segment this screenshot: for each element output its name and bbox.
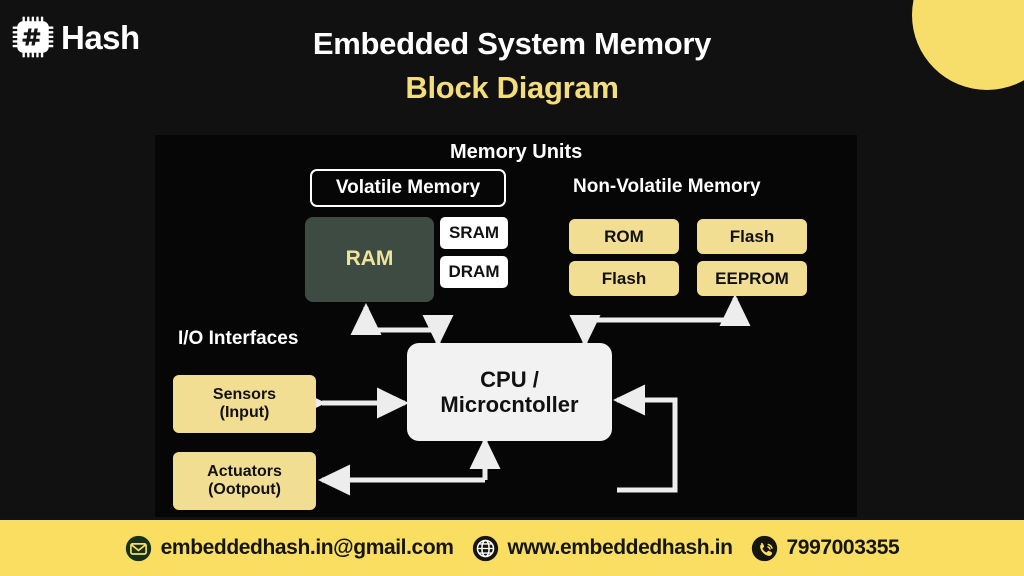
sensors-label-line2: (Input) <box>220 404 270 422</box>
block-diagram-panel: Memory Units Non-Volatile Memory I/O Int… <box>155 135 857 517</box>
eeprom-box: EEPROM <box>697 261 807 296</box>
flash-left-box: Flash <box>569 261 679 296</box>
ram-box: RAM <box>305 217 434 302</box>
footer-phone-item[interactable]: 7997003355 <box>751 535 900 562</box>
flash-right-box: Flash <box>697 219 807 254</box>
phone-icon <box>751 535 778 562</box>
actuators-box: Actuators (Ootpout) <box>173 452 316 510</box>
dram-box: DRAM <box>440 256 508 288</box>
footer-email-item[interactable]: embeddedhash.in@gmail.com <box>125 535 454 562</box>
footer-website-text: www.embeddedhash.in <box>508 536 733 560</box>
cpu-box: CPU / Microcntoller <box>407 343 612 441</box>
sram-box: SRAM <box>440 217 508 249</box>
brand-logo: Hash <box>12 16 140 58</box>
sensors-box: Sensors (Input) <box>173 375 316 433</box>
sensors-label-line1: Sensors <box>213 386 276 404</box>
envelope-icon <box>125 535 152 562</box>
volatile-memory-box: Volatile Memory <box>310 169 506 207</box>
rom-box: ROM <box>569 219 679 254</box>
brand-name: Hash <box>61 21 140 54</box>
page-title-block: Embedded System Memory Block Diagram <box>0 26 1024 106</box>
non-volatile-memory-label: Non-Volatile Memory <box>573 176 761 198</box>
cpu-label-line1: CPU / <box>480 367 539 392</box>
memory-units-label: Memory Units <box>450 141 582 164</box>
io-interfaces-label: I/O Interfaces <box>178 328 298 350</box>
page-subtitle: Block Diagram <box>0 70 1024 106</box>
footer-phone-text: 7997003355 <box>787 536 900 560</box>
contact-footer: embeddedhash.in@gmail.com www.embeddedha… <box>0 520 1024 576</box>
chip-icon <box>12 16 54 58</box>
actuators-label-line1: Actuators <box>207 463 282 481</box>
page-title: Embedded System Memory <box>0 26 1024 62</box>
cpu-label-line2: Microcntoller <box>440 392 578 417</box>
footer-website-item[interactable]: www.embeddedhash.in <box>472 535 733 562</box>
actuators-label-line2: (Ootpout) <box>208 481 281 499</box>
footer-email-text: embeddedhash.in@gmail.com <box>161 536 454 560</box>
globe-icon <box>472 535 499 562</box>
